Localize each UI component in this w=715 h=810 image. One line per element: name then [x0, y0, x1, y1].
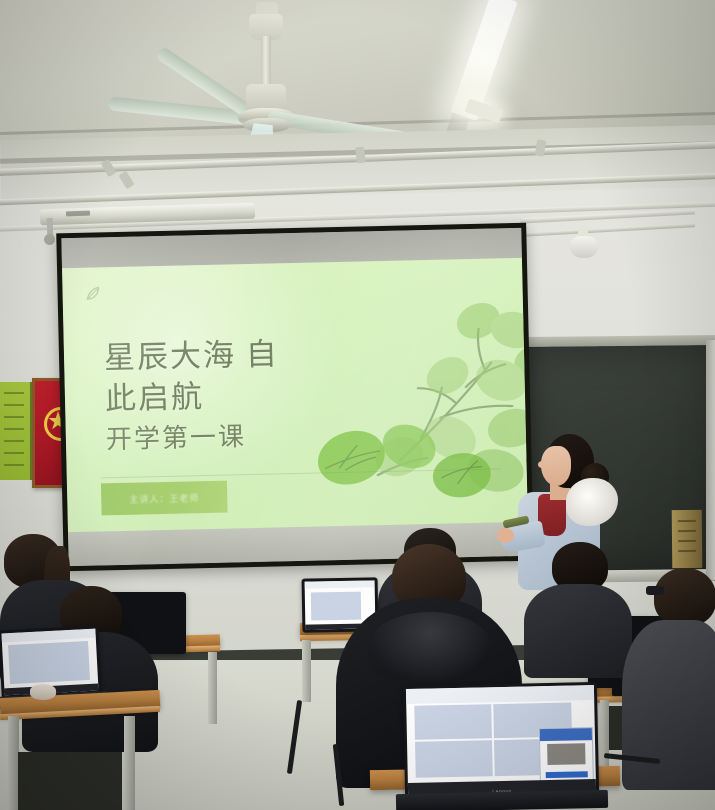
student-hood: [368, 612, 492, 682]
eyeglasses-icon: [646, 586, 664, 595]
student-torso: [622, 620, 715, 790]
leaf-logo-icon: [84, 285, 100, 301]
slide-presenter-label: 主讲人：王老师: [129, 491, 199, 506]
slide-title-line-2: 此启航: [105, 372, 376, 419]
popup-photo: [547, 743, 585, 765]
blackboard-clip: [672, 510, 703, 568]
laptop-foreground-base[interactable]: [396, 790, 608, 810]
laptop-foreground-screen: [406, 685, 596, 795]
roller-brand-label: [66, 211, 90, 217]
wall-corner-edge: [706, 340, 715, 580]
security-camera-icon: [570, 236, 598, 258]
desk-cup[interactable]: [30, 684, 56, 700]
desk-leg: [302, 640, 311, 702]
student-torso: [524, 584, 632, 678]
teacher-hand: [497, 528, 514, 543]
projection-screen[interactable]: 星辰大海 自 此启航 开学第一课 主讲人：王老师: [56, 223, 534, 572]
popup-title-bar: [539, 728, 592, 741]
laptop-toolbar: [305, 580, 375, 588]
slide-title: 星辰大海 自 此启航: [104, 331, 376, 419]
desk-shelf: [18, 752, 122, 810]
desk-leg: [600, 700, 609, 770]
slide-title-line-1: 星辰大海 自: [104, 331, 375, 378]
teacher-profile-nose: [538, 461, 546, 468]
laptop-document-window: [8, 641, 91, 684]
classroom-photo: 星辰大海 自 此启航 开学第一课 主讲人：王老师: [0, 0, 715, 810]
slide-subtitle: 开学第一课: [105, 416, 246, 456]
laptop-document-window: [310, 591, 361, 621]
laptop-toolbar: [1, 629, 95, 643]
slide-presenter-badge: 主讲人：王老师: [101, 481, 228, 516]
desk-leg: [208, 652, 217, 724]
screen-surface: 星辰大海 自 此启航 开学第一课 主讲人：王老师: [61, 228, 528, 566]
laptop-foreground[interactable]: Lenovo: [403, 682, 599, 798]
presentation-slide: 星辰大海 自 此启航 开学第一课 主讲人：王老师: [62, 258, 528, 534]
desk-leg: [124, 716, 135, 810]
fan-down-rod: [261, 36, 271, 88]
green-wall-poster: [0, 382, 32, 480]
laptop-chat-popup[interactable]: [538, 727, 594, 783]
roller-knob[interactable]: [44, 234, 55, 245]
laptop-toolbar[interactable]: [406, 685, 594, 704]
student-head: [654, 568, 715, 626]
popup-action-button[interactable]: [546, 771, 588, 778]
